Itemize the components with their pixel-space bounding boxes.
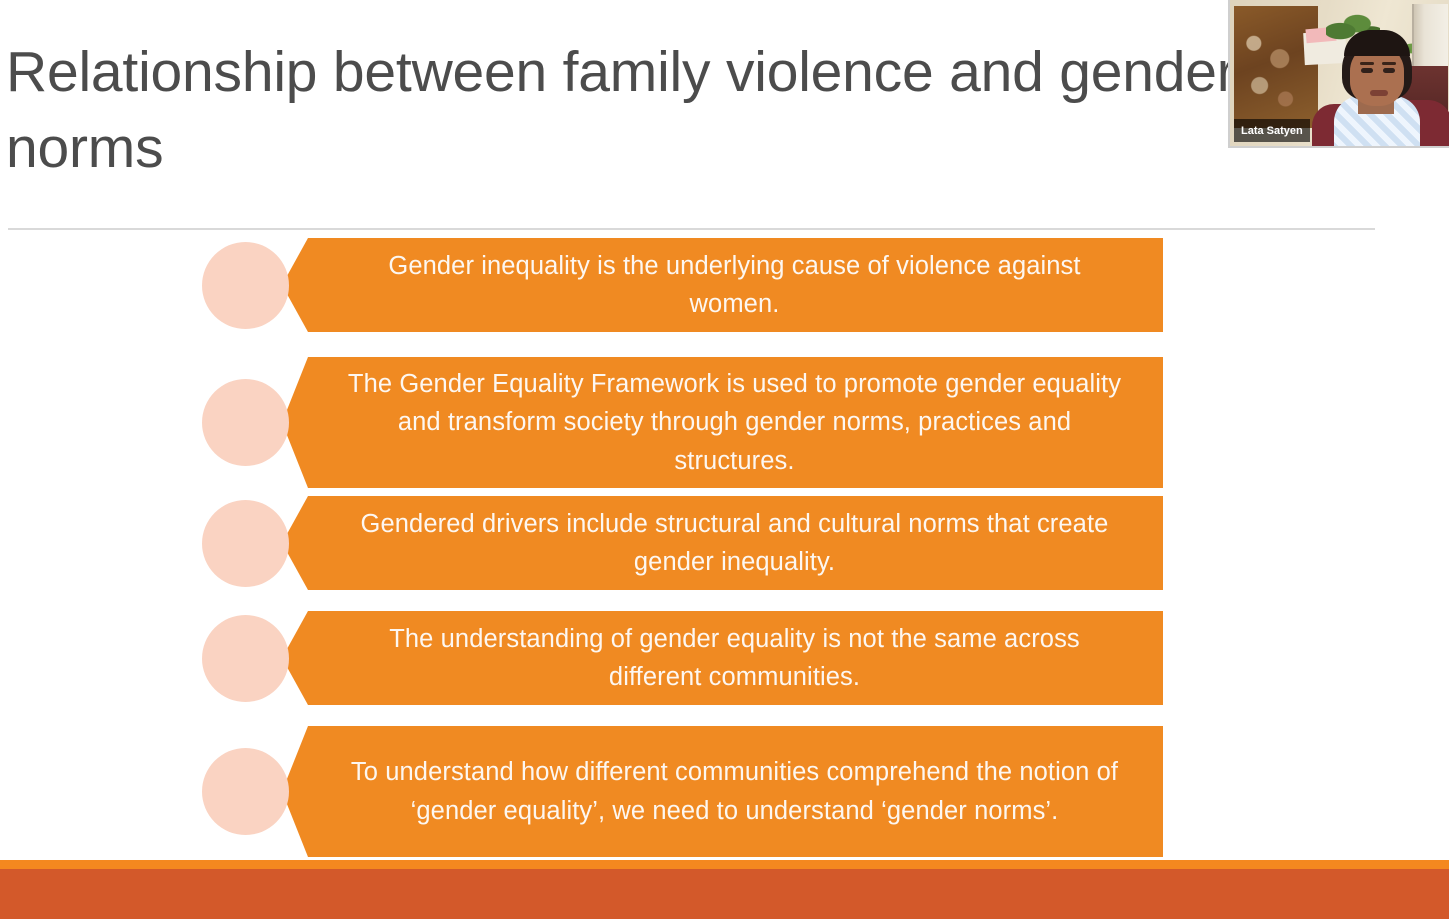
bullet-circle-icon xyxy=(202,242,289,329)
page-title: Relationship between family violence and… xyxy=(6,34,1241,186)
banner-text: The understanding of gender equality is … xyxy=(340,620,1129,697)
banner-shape-4: The understanding of gender equality is … xyxy=(282,611,1163,705)
eyebrow-left xyxy=(1360,62,1374,65)
participant-name-label: Lata Satyen xyxy=(1241,125,1303,137)
wall-board-decorations xyxy=(1238,26,1310,122)
bottom-accent-stripe xyxy=(0,860,1449,869)
eye-right xyxy=(1383,68,1395,73)
banner-shape-1: Gender inequality is the underlying caus… xyxy=(282,238,1163,332)
mouth xyxy=(1370,90,1388,96)
title-divider xyxy=(8,228,1375,230)
banner-text: Gendered drivers include structural and … xyxy=(340,505,1129,582)
video-thumbnail[interactable]: Lata Satyen xyxy=(1228,0,1449,148)
bottom-accent-bar xyxy=(0,869,1449,919)
participant-name-badge: Lata Satyen xyxy=(1234,119,1310,142)
banner-shape-3: Gendered drivers include structural and … xyxy=(282,496,1163,590)
bullet-circle-icon xyxy=(202,379,289,466)
bullet-circle-icon xyxy=(202,500,289,587)
eye-left xyxy=(1361,68,1373,73)
bullet-circle-icon xyxy=(202,615,289,702)
banner-shape-2: The Gender Equality Framework is used to… xyxy=(282,357,1163,488)
banner-list: Gender inequality is the underlying caus… xyxy=(0,238,1449,853)
banner-shape-5: To understand how different communities … xyxy=(282,726,1163,857)
banner-text: Gender inequality is the underlying caus… xyxy=(340,247,1129,324)
banner-text: To understand how different communities … xyxy=(340,753,1129,830)
bullet-circle-icon xyxy=(202,748,289,835)
eyebrow-right xyxy=(1382,62,1396,65)
banner-text: The Gender Equality Framework is used to… xyxy=(340,365,1129,481)
